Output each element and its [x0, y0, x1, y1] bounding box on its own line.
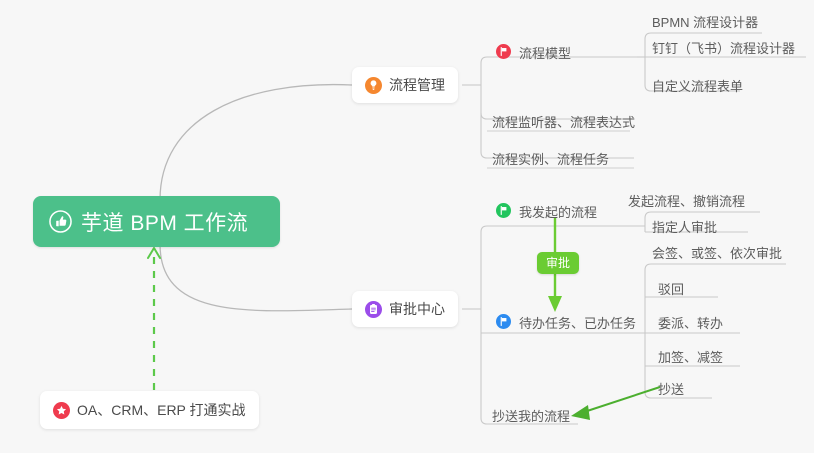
link-root-to-approval-center	[160, 244, 352, 311]
node-process-instance-label: 流程实例、流程任务	[492, 149, 609, 168]
node-start-cancel-process[interactable]: 发起流程、撤销流程	[626, 189, 749, 213]
node-process-management-label: 流程管理	[389, 75, 445, 95]
node-todo-done-task-label: 待办任务、已办任务	[519, 313, 636, 332]
node-dingtalk-designer-label: 钉钉（飞书）流程设计器	[652, 38, 795, 57]
node-my-started-process[interactable]: 我发起的流程	[494, 200, 601, 224]
node-my-started-process-label: 我发起的流程	[519, 202, 597, 221]
node-reject-label: 驳回	[658, 279, 684, 298]
node-approval-center-label: 审批中心	[389, 299, 445, 319]
node-sign-modes-label: 会签、或签、依次审批	[652, 243, 782, 262]
node-process-listener[interactable]: 流程监听器、流程表达式	[490, 110, 639, 134]
root-node[interactable]: 芋道 BPM 工作流	[33, 196, 280, 247]
node-process-model[interactable]: 流程模型	[494, 41, 575, 65]
dashed-arrow-head	[148, 248, 160, 258]
annotation-approve-badge: 审批	[537, 252, 579, 274]
lightbulb-icon	[365, 77, 381, 93]
node-process-model-label: 流程模型	[519, 43, 571, 62]
clipboard-icon	[365, 301, 381, 317]
star-icon	[53, 402, 69, 418]
flag-icon	[496, 314, 512, 330]
node-cc-my-process-label: 抄送我的流程	[492, 406, 570, 425]
thumbs-up-icon	[49, 210, 72, 233]
node-assignee-approval-label: 指定人审批	[652, 217, 717, 236]
node-bpmn-designer-label: BPMN 流程设计器	[652, 12, 758, 31]
node-cc-label: 抄送	[658, 379, 684, 398]
flag-icon	[496, 203, 512, 219]
node-custom-form-label: 自定义流程表单	[652, 76, 743, 95]
node-start-cancel-process-label: 发起流程、撤销流程	[628, 191, 745, 210]
node-process-instance[interactable]: 流程实例、流程任务	[490, 147, 613, 171]
cc-arrow-shaft	[578, 387, 660, 414]
node-reject[interactable]: 驳回	[656, 277, 688, 301]
node-assignee-approval[interactable]: 指定人审批	[650, 215, 721, 239]
node-approval-center[interactable]: 审批中心	[352, 291, 458, 327]
node-delegate-transfer[interactable]: 委派、转办	[656, 311, 727, 335]
node-integration-practice[interactable]: OA、CRM、ERP 打通实战	[40, 391, 259, 429]
node-add-remove-sign-label: 加签、减签	[658, 347, 723, 366]
node-sign-modes[interactable]: 会签、或签、依次审批	[650, 241, 786, 265]
approve-arrow-head	[548, 296, 562, 312]
node-add-remove-sign[interactable]: 加签、减签	[656, 345, 727, 369]
flag-icon	[496, 44, 512, 60]
node-cc-my-process[interactable]: 抄送我的流程	[490, 404, 574, 428]
root-label: 芋道 BPM 工作流	[81, 207, 248, 237]
node-cc[interactable]: 抄送	[656, 377, 688, 401]
node-bpmn-designer[interactable]: BPMN 流程设计器	[650, 10, 762, 34]
node-dingtalk-designer[interactable]: 钉钉（飞书）流程设计器	[650, 36, 799, 60]
node-custom-form[interactable]: 自定义流程表单	[650, 74, 747, 98]
node-process-management[interactable]: 流程管理	[352, 67, 458, 103]
node-todo-done-task[interactable]: 待办任务、已办任务	[494, 311, 640, 335]
node-integration-practice-label: OA、CRM、ERP 打通实战	[77, 400, 246, 420]
node-process-listener-label: 流程监听器、流程表达式	[492, 112, 635, 131]
annotation-approve-badge-label: 审批	[546, 256, 570, 270]
mindmap-canvas: 芋道 BPM 工作流 流程管理 流程模型 流程监听器、流程表达式 流程实例、流程…	[0, 0, 814, 453]
link-root-to-process-management	[160, 85, 352, 200]
node-delegate-transfer-label: 委派、转办	[658, 313, 723, 332]
